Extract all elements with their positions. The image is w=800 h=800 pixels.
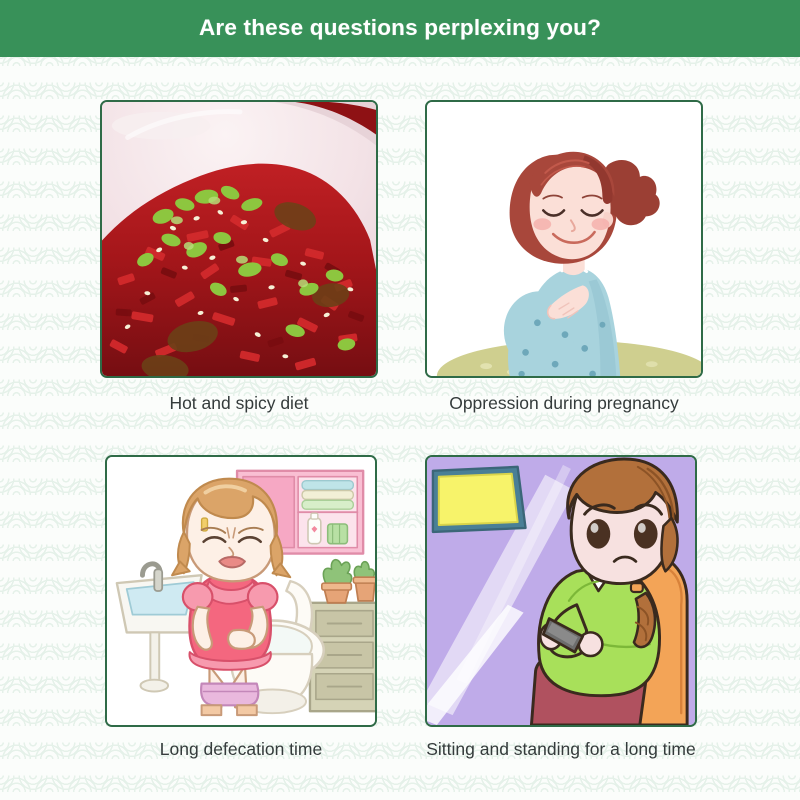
page-title: Are these questions perplexing you? bbox=[199, 17, 601, 40]
card-image-frame bbox=[425, 100, 703, 378]
question-card-long-defecation-time[interactable]: Long defecation time bbox=[105, 455, 377, 759]
card-caption: Hot and spicy diet bbox=[100, 394, 378, 413]
card-caption: Long defecation time bbox=[105, 740, 377, 759]
card-image-frame bbox=[105, 455, 377, 727]
girl-on-toilet-illustration bbox=[107, 457, 375, 725]
question-card-grid: Hot and spicy diet bbox=[0, 57, 800, 800]
question-card-sitting-and-standing-for-a-long-time[interactable]: Sitting and standing for a long time bbox=[425, 455, 697, 759]
question-card-oppression-during-pregnancy[interactable]: Oppression during pregnancy bbox=[425, 100, 703, 413]
page-header-banner: Are these questions perplexing you? bbox=[0, 0, 800, 57]
woman-sitting-with-phone-illustration bbox=[427, 457, 695, 725]
card-caption: Sitting and standing for a long time bbox=[425, 740, 697, 759]
pregnant-woman-illustration bbox=[427, 102, 701, 376]
card-image-frame bbox=[425, 455, 697, 727]
question-card-hot-and-spicy-diet[interactable]: Hot and spicy diet bbox=[100, 100, 378, 413]
spicy-food-photo bbox=[102, 102, 376, 376]
card-image-frame bbox=[100, 100, 378, 378]
card-caption: Oppression during pregnancy bbox=[425, 394, 703, 413]
page-root: Are these questions perplexing you? bbox=[0, 0, 800, 800]
